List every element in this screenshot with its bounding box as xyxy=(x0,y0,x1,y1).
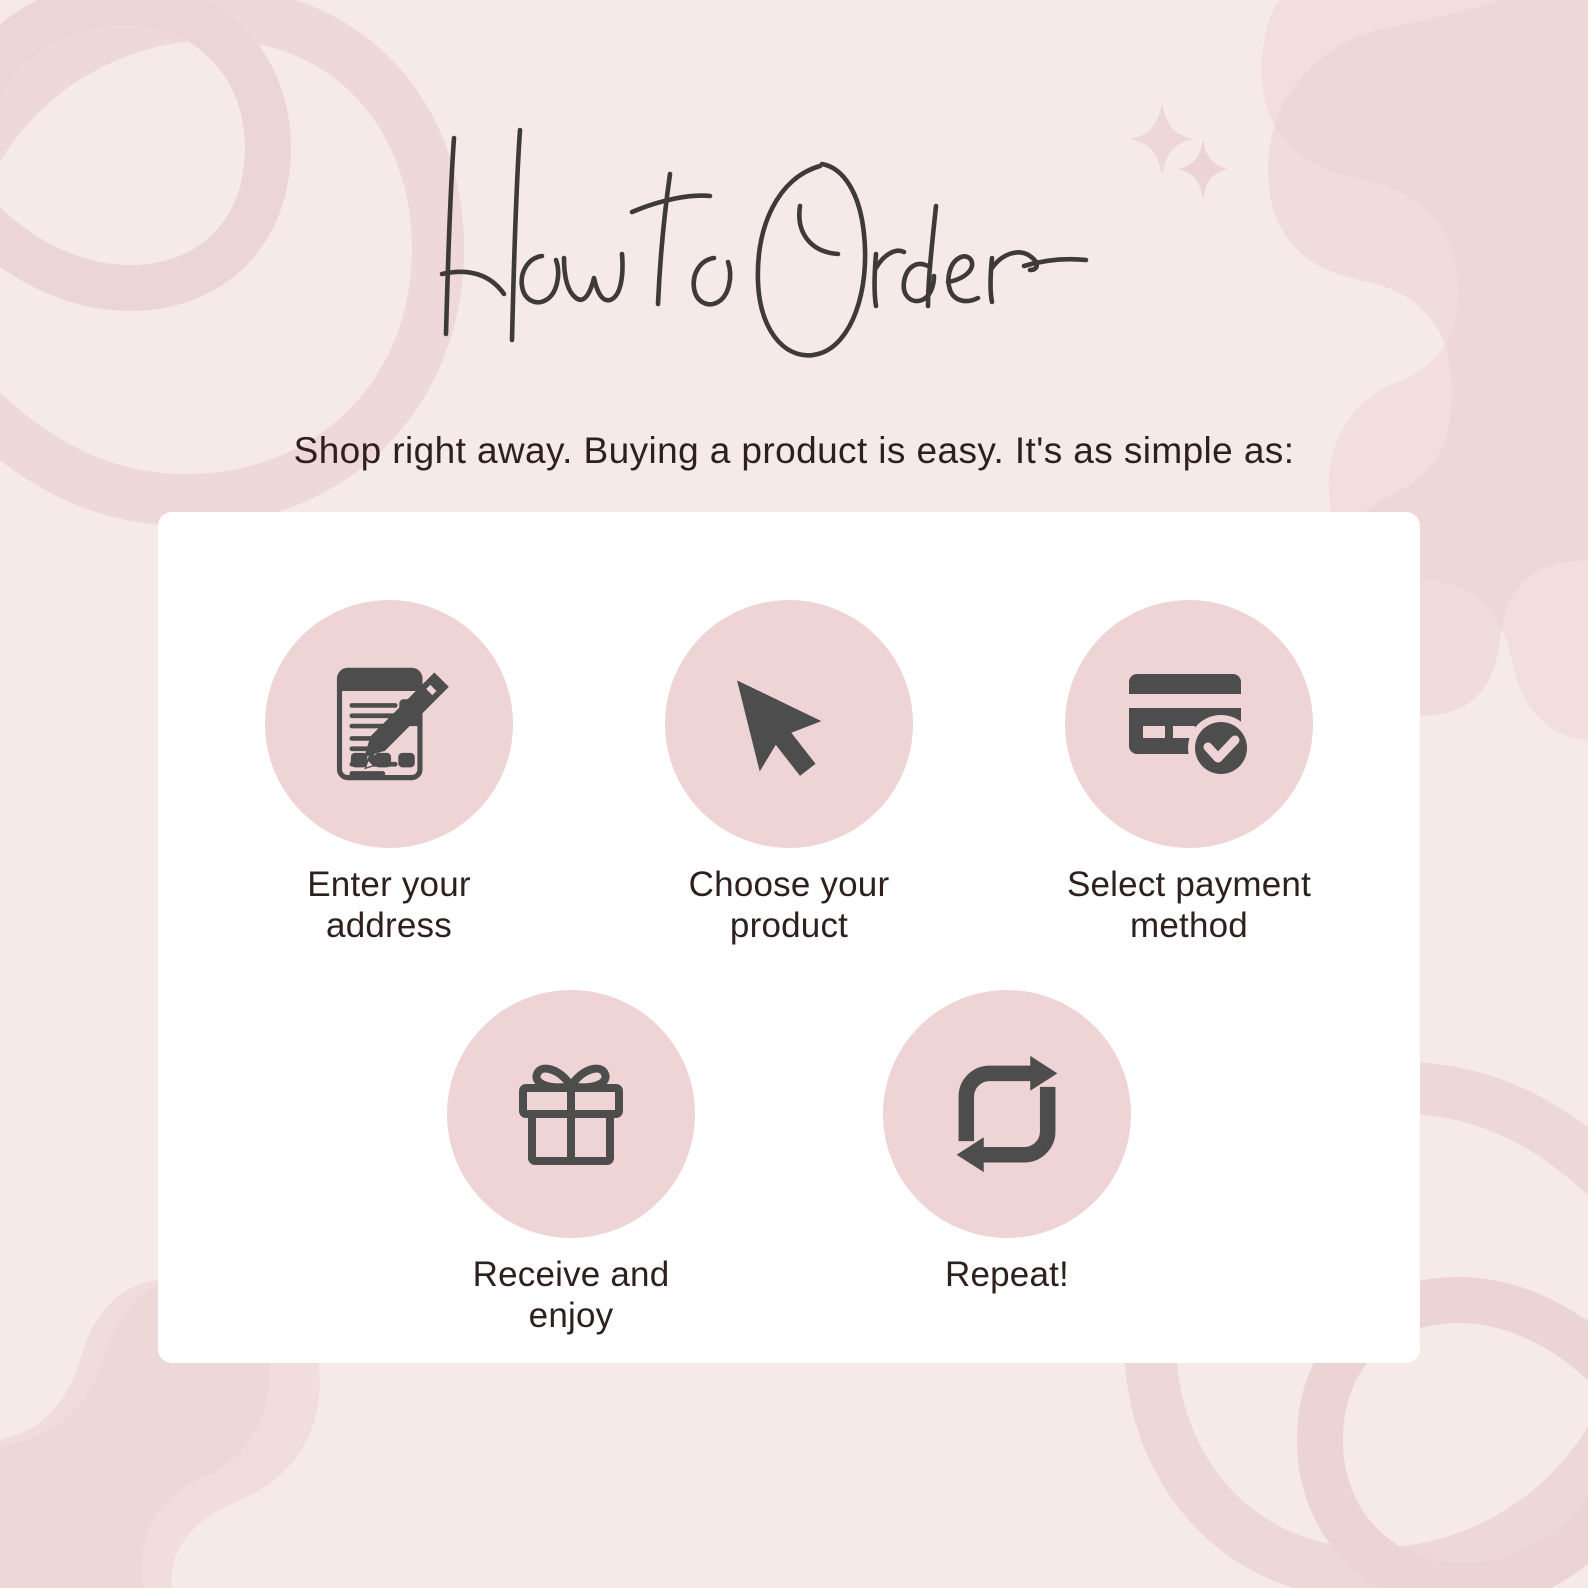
step-label: Repeat! xyxy=(945,1254,1069,1295)
document-pencil-icon xyxy=(323,658,455,790)
mouse-cursor-icon xyxy=(725,660,853,788)
sparkle-icon xyxy=(1118,95,1238,215)
step-icon-circle xyxy=(883,990,1131,1238)
steps-card: Enter your address Choose your product xyxy=(158,512,1420,1363)
step-label: Select payment method xyxy=(1067,864,1311,947)
step-icon-circle xyxy=(665,600,913,848)
how-to-order-poster: How to Order Shop right away. Buying a p… xyxy=(0,0,1588,1588)
step-icon-circle xyxy=(265,600,513,848)
step-icon-circle xyxy=(447,990,695,1238)
step-icon-circle xyxy=(1065,600,1313,848)
page-title: How to Order xyxy=(0,108,1588,370)
step-choose-product[interactable]: Choose your product xyxy=(660,600,918,947)
step-enter-address[interactable]: Enter your address xyxy=(260,600,518,947)
step-label: Receive and enjoy xyxy=(473,1254,670,1337)
steps-row-bottom: Receive and enjoy Repeat! xyxy=(158,990,1420,1337)
gift-box-icon xyxy=(507,1050,635,1178)
step-select-payment[interactable]: Select payment method xyxy=(1060,600,1318,947)
subtitle: Shop right away. Buying a product is eas… xyxy=(0,430,1588,472)
page-title-script-icon xyxy=(424,108,1164,370)
step-label: Enter your address xyxy=(307,864,470,947)
steps-row-top: Enter your address Choose your product xyxy=(158,600,1420,947)
credit-card-check-icon xyxy=(1121,656,1257,792)
step-repeat[interactable]: Repeat! xyxy=(878,990,1136,1337)
step-receive-enjoy[interactable]: Receive and enjoy xyxy=(442,990,700,1337)
step-label: Choose your product xyxy=(689,864,890,947)
repeat-loop-icon xyxy=(945,1052,1069,1176)
